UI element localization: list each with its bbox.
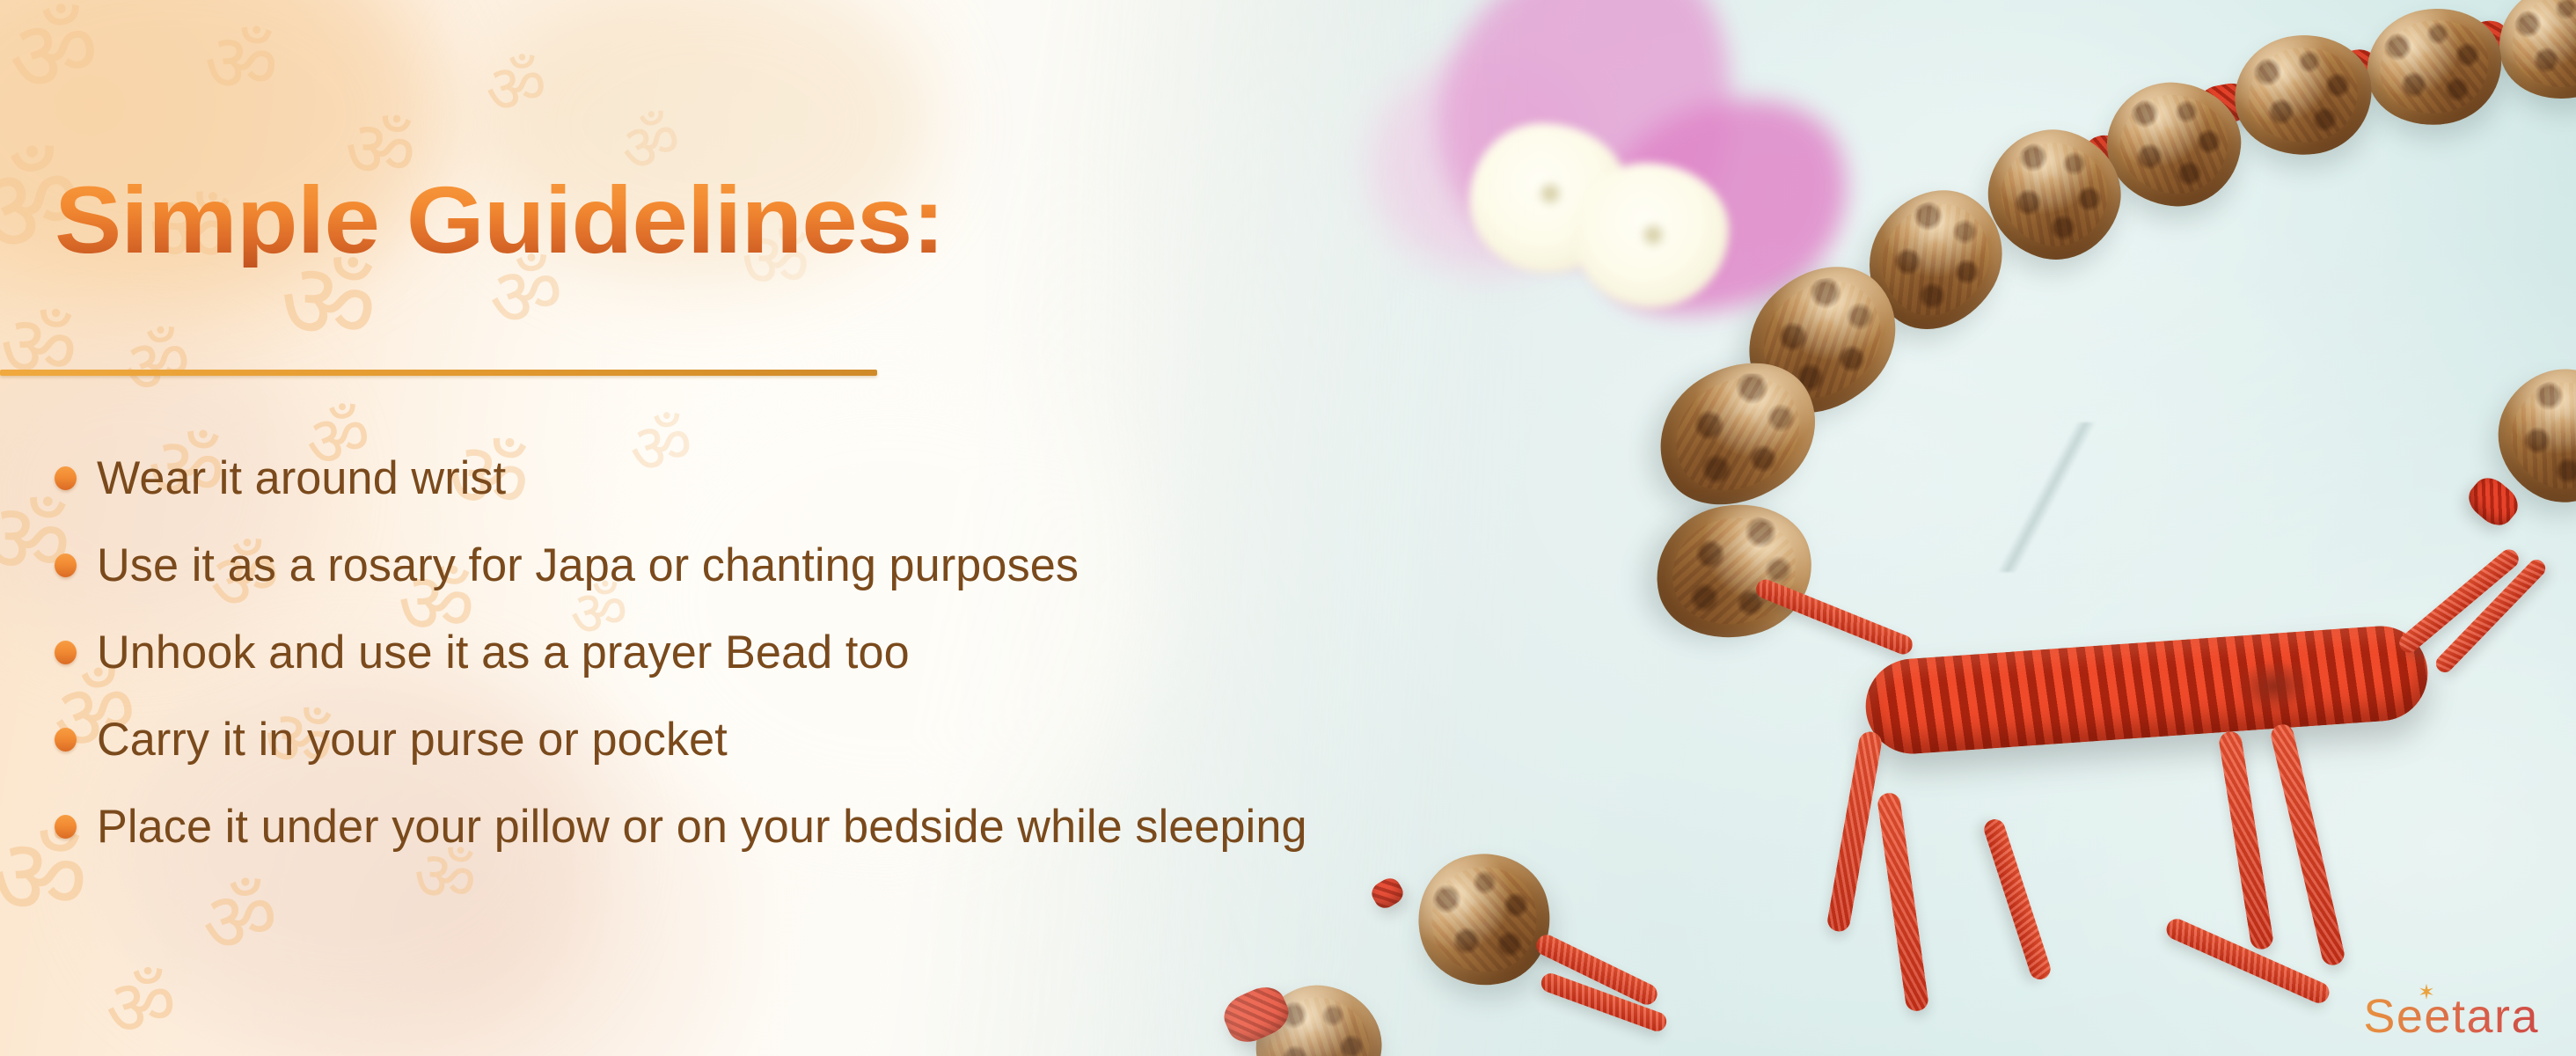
sparkle-icon xyxy=(2417,983,2436,1002)
om-symbol-icon: ॐ xyxy=(196,875,283,968)
list-item-label: Place it under your pillow or on your be… xyxy=(97,803,1307,850)
surface-scuff-mark xyxy=(1918,422,2182,572)
bullet-dot-icon xyxy=(55,641,77,664)
om-symbol-icon: ॐ xyxy=(3,0,106,110)
list-item: Wear it around wrist xyxy=(55,435,1462,522)
om-symbol-icon: ॐ xyxy=(117,321,197,407)
om-symbol-icon: ॐ xyxy=(482,52,550,125)
bullet-dot-icon xyxy=(55,815,77,839)
om-symbol-icon: ॐ xyxy=(200,20,282,110)
list-item: Use it as a rosary for Japa or chanting … xyxy=(55,522,1462,609)
title-divider xyxy=(0,370,877,376)
promotional-banner: ॐ ॐ ॐ ॐ ॐ ॐ ॐ ॐ ॐ ॐ ॐ ॐ ॐ ॐ ॐ ॐ ॐ ॐ ॐ ॐ … xyxy=(0,0,2576,1056)
page-title: Simple Guidelines: xyxy=(55,172,944,268)
list-item: Place it under your pillow or on your be… xyxy=(55,783,1462,870)
guidelines-list: Wear it around wrist Use it as a rosary … xyxy=(55,435,1462,870)
list-item-label: Wear it around wrist xyxy=(97,455,506,502)
list-item-label: Use it as a rosary for Japa or chanting … xyxy=(97,542,1079,589)
list-item-label: Unhook and use it as a prayer Bead too xyxy=(97,629,910,676)
list-item-label: Carry it in your purse or pocket xyxy=(97,716,728,763)
list-item: Unhook and use it as a prayer Bead too xyxy=(55,609,1462,696)
bullet-dot-icon xyxy=(55,554,77,577)
brand-logo[interactable]: Seetara xyxy=(2363,993,2539,1040)
flower-center-right xyxy=(1638,222,1668,248)
om-symbol-icon: ॐ xyxy=(102,964,180,1049)
om-symbol-icon: ॐ xyxy=(0,301,84,397)
bullet-dot-icon xyxy=(55,466,77,490)
bullet-dot-icon xyxy=(55,728,77,752)
list-item: Carry it in your purse or pocket xyxy=(55,696,1462,783)
brand-name: Seetara xyxy=(2363,993,2539,1040)
